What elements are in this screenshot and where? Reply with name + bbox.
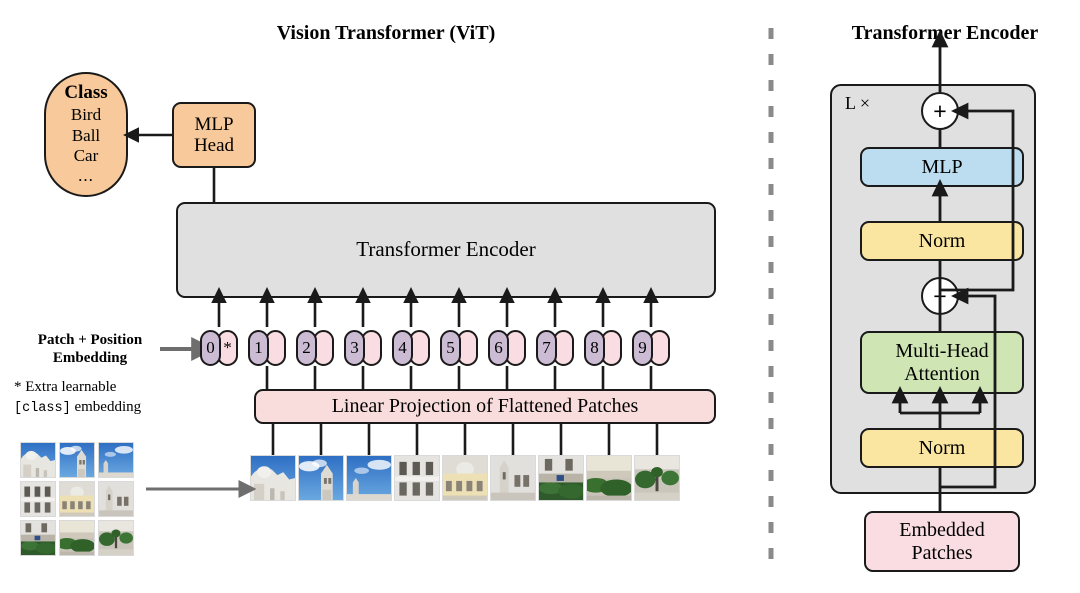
- token-8-position-embedding: 8: [584, 330, 605, 366]
- embedded-patches-block: Embedded Patches: [864, 511, 1020, 572]
- token-8: 8: [584, 330, 622, 366]
- encoder-attention-line1: Multi-Head: [895, 340, 988, 362]
- token-3-position-embedding: 3: [344, 330, 365, 366]
- flattened-patch-7: [538, 455, 584, 501]
- token-5-position-embedding: 5: [440, 330, 461, 366]
- token-7-position-embedding: 7: [536, 330, 557, 366]
- flattened-patch-1: [250, 455, 296, 501]
- encoder-mlp-block: MLP: [860, 147, 1024, 187]
- embedded-patches-line1: Embedded: [899, 519, 985, 541]
- flattened-patch-4: [394, 455, 440, 501]
- token-4: 4: [392, 330, 430, 366]
- token-2: 2: [296, 330, 334, 366]
- encoder-attention-block: Multi-Head Attention: [860, 331, 1024, 394]
- token-2-position-embedding: 2: [296, 330, 317, 366]
- flattened-patch-8: [586, 455, 632, 501]
- encoder-norm-top-block: Norm: [860, 221, 1024, 261]
- token-6: 6: [488, 330, 526, 366]
- encoder-mlp-label: MLP: [921, 156, 962, 178]
- flattened-patch-5: [442, 455, 488, 501]
- flattened-patch-6: [490, 455, 536, 501]
- residual-add-bottom-glyph: +: [933, 285, 946, 308]
- encoder-attention-line2: Attention: [895, 363, 988, 385]
- token-1-position-embedding: 1: [248, 330, 269, 366]
- flattened-patch-9: [634, 455, 680, 501]
- encoder-norm-bottom-label: Norm: [919, 437, 966, 459]
- token-1: 1: [248, 330, 286, 366]
- flattened-patch-3: [346, 455, 392, 501]
- encoder-norm-top-label: Norm: [919, 230, 966, 252]
- embedded-patches-line2: Patches: [899, 542, 985, 564]
- token-5: 5: [440, 330, 478, 366]
- right-panel-title: Transformer Encoder: [820, 22, 1070, 45]
- residual-add-bottom: +: [921, 277, 959, 315]
- token-6-position-embedding: 6: [488, 330, 509, 366]
- residual-add-top: +: [921, 92, 959, 130]
- token-9: 9: [632, 330, 670, 366]
- token-7: 7: [536, 330, 574, 366]
- residual-add-top-glyph: +: [933, 100, 946, 123]
- encoder-repeat-label: L ×: [845, 93, 870, 114]
- token-0: *0: [200, 330, 238, 366]
- token-0-position-embedding: 0: [200, 330, 221, 366]
- flattened-patch-2: [298, 455, 344, 501]
- encoder-norm-bottom-block: Norm: [860, 428, 1024, 468]
- token-3: 3: [344, 330, 382, 366]
- token-9-position-embedding: 9: [632, 330, 653, 366]
- token-4-position-embedding: 4: [392, 330, 413, 366]
